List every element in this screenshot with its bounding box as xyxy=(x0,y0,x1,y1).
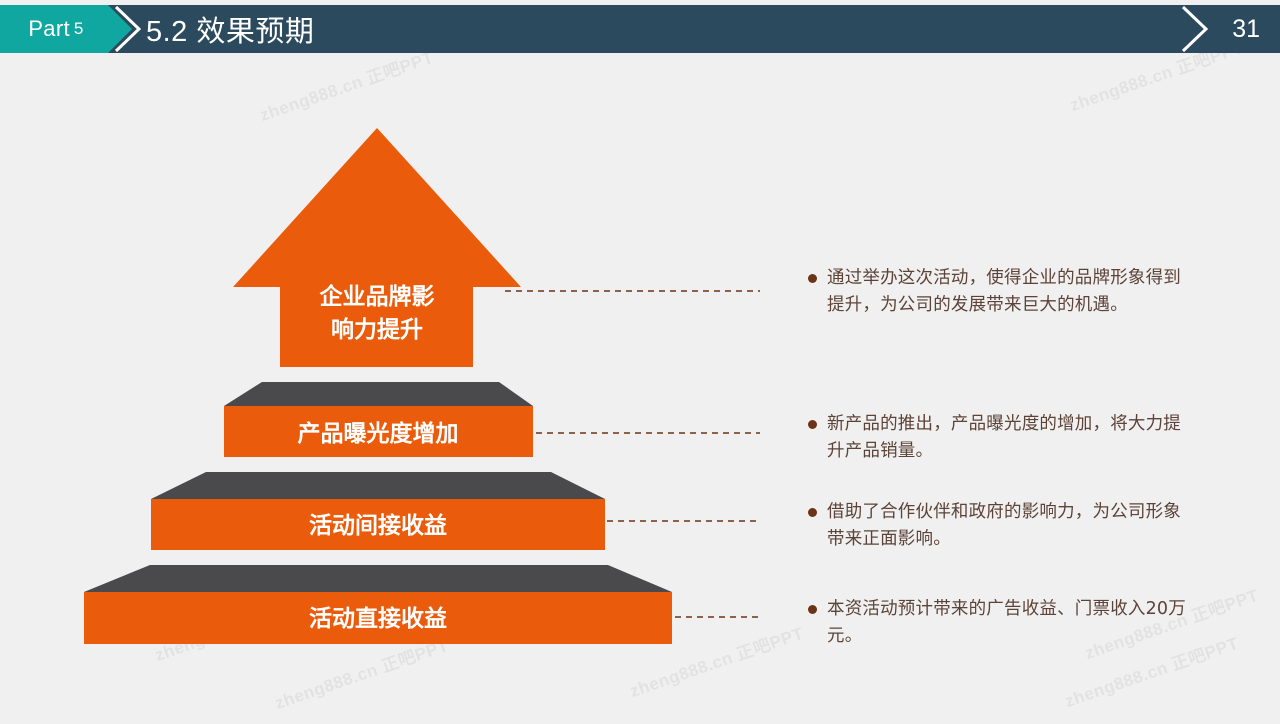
description-list: 通过举办这次活动，使得企业的品牌形象得到提升，为公司的发展带来巨大的机遇。新产品… xyxy=(808,0,1228,719)
part-tag-label: Part 5 xyxy=(0,5,112,53)
description-text: 通过举办这次活动，使得企业的品牌形象得到提升，为公司的发展带来巨大的机遇。 xyxy=(827,265,1195,319)
page-title: 5.2 效果预期 xyxy=(146,5,314,53)
part-number-text: 5 xyxy=(74,19,84,39)
description-item: 借助了合作伙伴和政府的影响力，为公司形象带来正面影响。 xyxy=(808,499,1195,553)
pyramid-level-4[interactable] xyxy=(84,565,672,644)
slide-header: Part 5 5.2 效果预期 31 xyxy=(0,5,1280,53)
level-4-label: 活动直接收益 xyxy=(309,605,447,632)
description-item: 新产品的推出，产品曝光度的增加，将大力提升产品销量。 xyxy=(808,411,1195,465)
description-bullet-icon xyxy=(808,420,817,429)
level-4-top-face xyxy=(84,565,672,592)
chevron-separator-right-icon xyxy=(1181,5,1211,53)
level-3-label: 活动间接收益 xyxy=(309,512,447,539)
level-1-label-line2: 响力提升 xyxy=(331,316,423,343)
slide-page-number: 31 xyxy=(1232,5,1260,53)
description-text: 借助了合作伙伴和政府的影响力，为公司形象带来正面影响。 xyxy=(827,499,1195,553)
chevron-separator-left-icon xyxy=(114,5,144,53)
description-bullet-icon xyxy=(808,274,817,283)
level-2-top-face xyxy=(224,382,533,406)
pyramid-diagram: 企业品牌影 响力提升 产品曝光度增加 活动间接收益 活动直接收益 xyxy=(0,0,760,719)
description-bullet-icon xyxy=(808,508,817,517)
level-1-label-line1: 企业品牌影 xyxy=(319,283,435,310)
level-2-label: 产品曝光度增加 xyxy=(298,420,459,447)
pyramid-svg: 企业品牌影 响力提升 产品曝光度增加 活动间接收益 活动直接收益 xyxy=(0,0,760,719)
description-item: 通过举办这次活动，使得企业的品牌形象得到提升，为公司的发展带来巨大的机遇。 xyxy=(808,265,1195,319)
description-item: 本资活动预计带来的广告收益、门票收入20万元。 xyxy=(808,596,1195,650)
description-text: 新产品的推出，产品曝光度的增加，将大力提升产品销量。 xyxy=(827,411,1195,465)
level-3-top-face xyxy=(151,472,605,499)
part-label-text: Part xyxy=(28,16,70,42)
description-bullet-icon xyxy=(808,605,817,614)
description-text: 本资活动预计带来的广告收益、门票收入20万元。 xyxy=(827,596,1195,650)
